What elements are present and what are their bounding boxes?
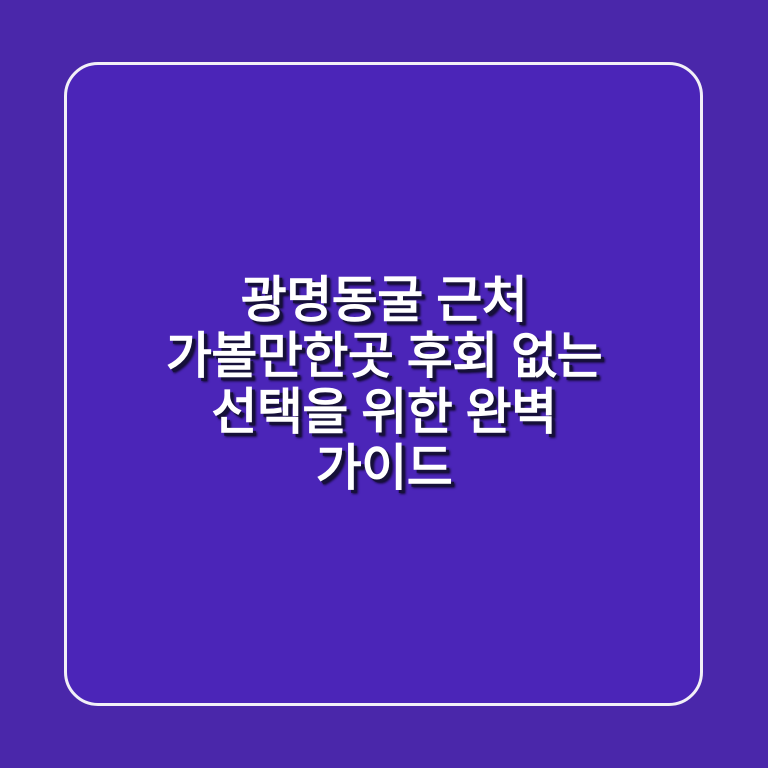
inner-border-panel xyxy=(64,62,703,706)
thumbnail-canvas: 광명동굴 근처 가볼만한곳 후회 없는 선택을 위한 완벽 가이드 xyxy=(0,0,768,768)
